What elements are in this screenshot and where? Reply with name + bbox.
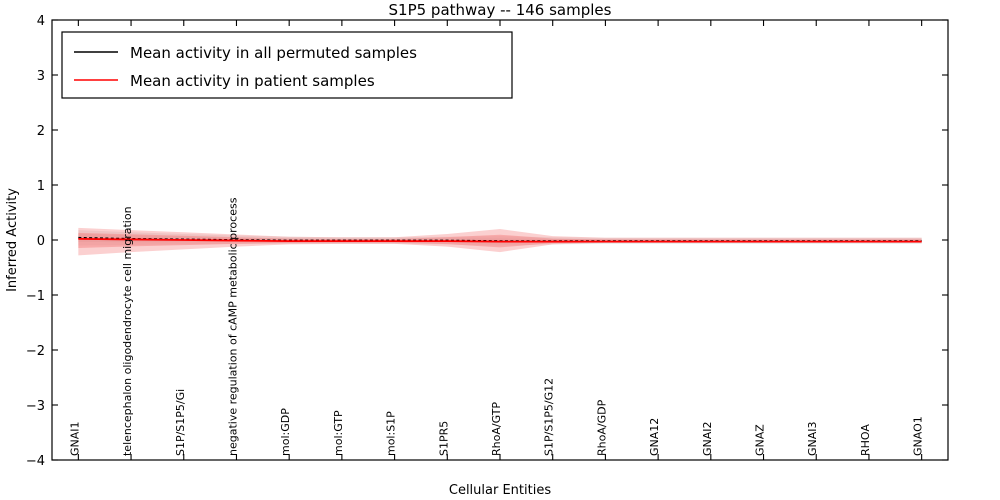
y-axis-label: Inferred Activity: [5, 188, 20, 292]
x-tick-label-gnai2: GNAI2: [701, 421, 714, 456]
legend-label-permuted: Mean activity in all permuted samples: [130, 44, 417, 62]
legend-label-patient: Mean activity in patient samples: [130, 72, 375, 90]
chart-svg: 43210−1−2−3−4 GNAI1telencephalon oligode…: [0, 0, 1000, 500]
x-tick-label-negative-regulation-of-camp-metabolic-process: negative regulation of cAMP metabolic pr…: [226, 197, 239, 456]
y-tick-label: −1: [26, 289, 45, 304]
figure-canvas: 43210−1−2−3−4 GNAI1telencephalon oligode…: [0, 0, 1000, 500]
y-tick-label: 3: [37, 69, 45, 84]
x-tick-label-s1p-s1p5-gi: S1P/S1P5/Gi: [174, 389, 187, 456]
x-axis-label: Cellular Entities: [449, 483, 551, 498]
x-tick-label-telencephalon-oligodendrocyte-cell-migration: telencephalon oligodendrocyte cell migra…: [121, 206, 134, 456]
x-tick-label-gnai1: GNAI1: [68, 421, 81, 456]
y-tick-label: −2: [26, 344, 45, 359]
x-tick-label-rhoa: RHOA: [859, 424, 872, 456]
x-tick-label-rhoa-gdp: RhoA/GDP: [595, 399, 608, 456]
x-tick-label-gnai3: GNAI3: [806, 421, 819, 456]
x-tick-label-gnao1: GNAO1: [912, 416, 925, 456]
x-tick-label-mol-gdp: mol:GDP: [279, 408, 292, 456]
y-tick-label: 0: [37, 234, 45, 249]
x-tick-label-mol-s1p: mol:S1P: [385, 411, 398, 456]
page-title: S1P5 pathway -- 146 samples: [389, 1, 612, 19]
y-tick-label: −3: [26, 399, 45, 414]
y-tick-label: 1: [37, 179, 45, 194]
x-tick-label-rhoa-gtp: RhoA/GTP: [490, 402, 503, 456]
x-tick-label-s1p-s1p5-g12: S1P/S1P5/G12: [543, 378, 556, 456]
y-tick-label: 4: [37, 14, 45, 29]
x-tick-label-gnaz: GNAZ: [754, 424, 767, 456]
x-tick-label-s1pr5: S1PR5: [437, 421, 450, 456]
legend[interactable]: Mean activity in all permuted samples Me…: [62, 32, 512, 98]
y-tick-label: 2: [37, 124, 45, 139]
x-tick-label-gna12: GNA12: [648, 418, 661, 456]
y-tick-label: −4: [26, 454, 45, 469]
x-tick-label-mol-gtp: mol:GTP: [332, 410, 345, 456]
